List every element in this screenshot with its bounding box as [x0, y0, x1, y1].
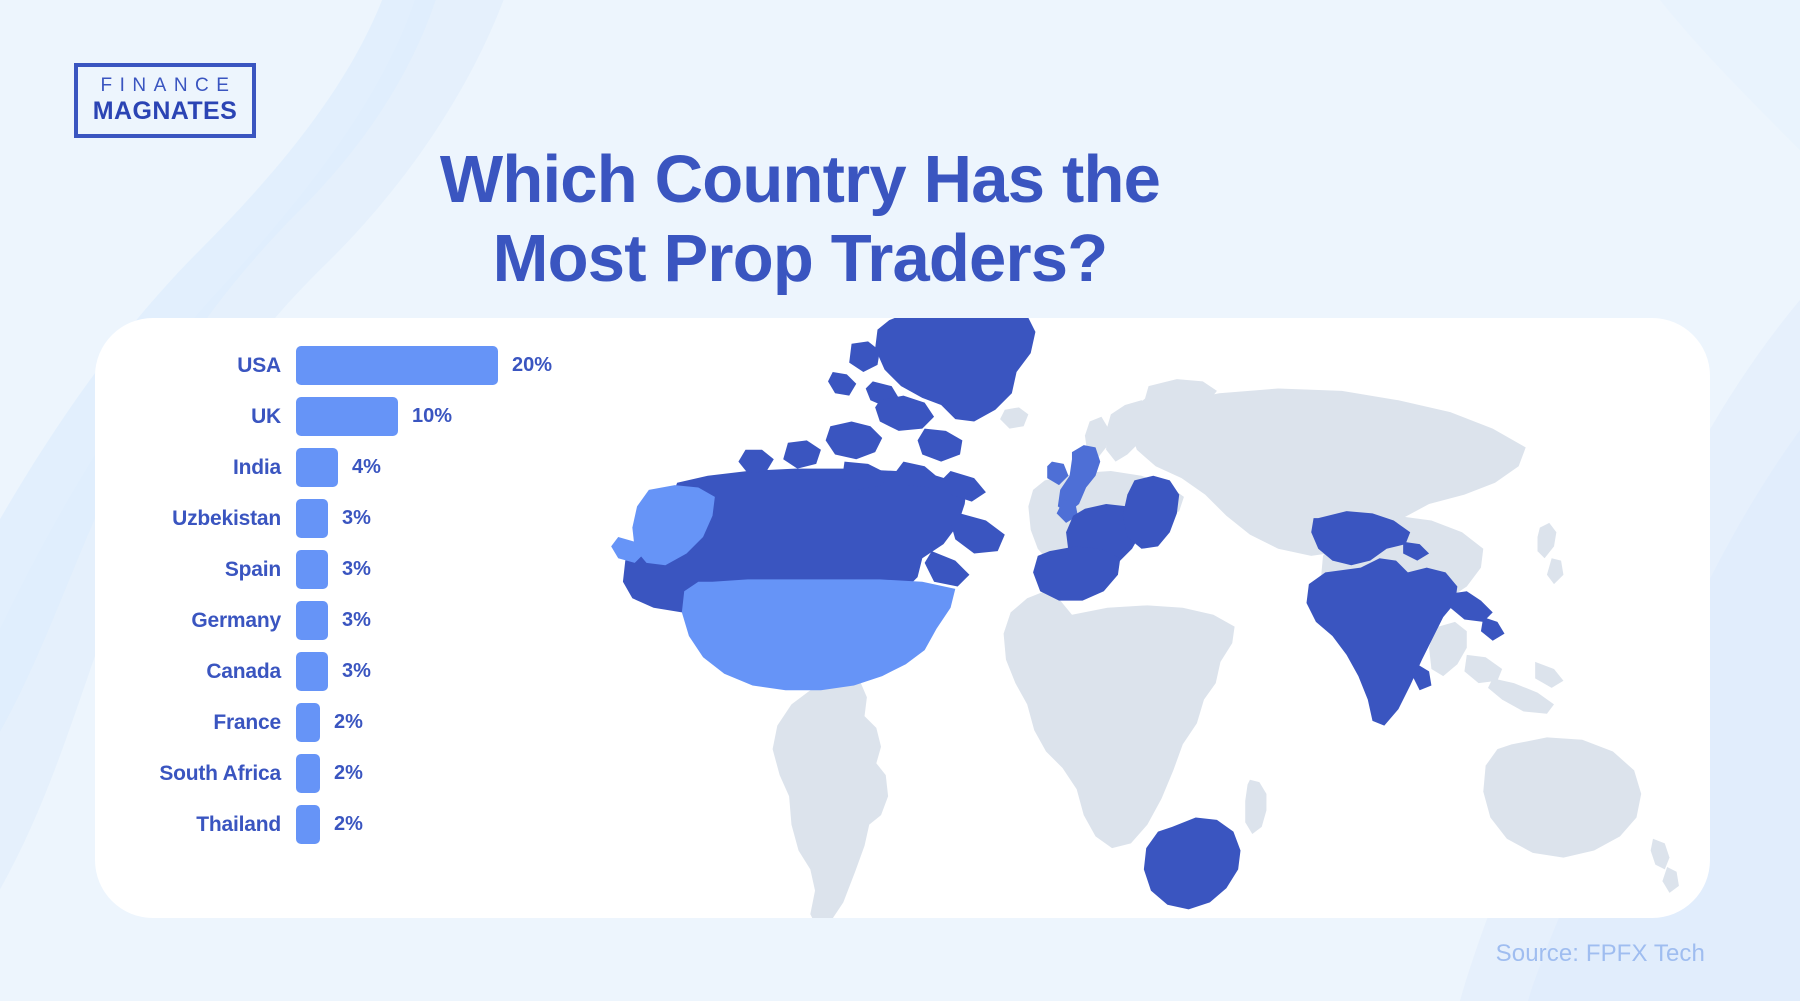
bar-track: 3% [296, 601, 371, 640]
bar-label: South Africa [125, 762, 296, 786]
page-title-line-2: Most Prop Traders? [330, 219, 1270, 298]
bar-label: Uzbekistan [125, 507, 296, 531]
bar-value: 3% [342, 609, 371, 632]
bar-track: 2% [296, 805, 363, 844]
bar-value: 3% [342, 558, 371, 581]
world-map-svg [525, 318, 1710, 918]
bar-row: USA 20% [125, 340, 595, 391]
brand-logo: FINANCE MAGNATES [74, 63, 256, 138]
bar-row: UK 10% [125, 391, 595, 442]
bar-value: 2% [334, 813, 363, 836]
bar-fill [296, 550, 328, 589]
map-country-greenland [828, 318, 1035, 422]
bar-track: 2% [296, 754, 363, 793]
bar-chart: USA 20% UK 10% India 4% Uzbekistan [125, 340, 595, 850]
bar-track: 2% [296, 703, 363, 742]
source-credit: Source: FPFX Tech [1496, 940, 1705, 968]
map-country-india [1307, 558, 1505, 725]
bar-fill [296, 754, 320, 793]
bar-track: 10% [296, 397, 452, 436]
bar-label: Spain [125, 558, 296, 582]
bar-fill [296, 448, 338, 487]
bar-track: 4% [296, 448, 381, 487]
bar-value: 3% [342, 660, 371, 683]
bar-row: France 2% [125, 697, 595, 748]
bar-row: Canada 3% [125, 646, 595, 697]
bar-row: Uzbekistan 3% [125, 493, 595, 544]
bar-label: India [125, 456, 296, 480]
content-card: USA 20% UK 10% India 4% Uzbekistan [95, 318, 1710, 918]
bar-label: USA [125, 354, 296, 378]
bar-value: 4% [352, 456, 381, 479]
bar-track: 3% [296, 499, 371, 538]
bar-label: Germany [125, 609, 296, 633]
map-country-south-africa [1144, 818, 1241, 910]
bar-fill [296, 703, 320, 742]
bar-value: 2% [334, 711, 363, 734]
bar-track: 3% [296, 652, 371, 691]
bar-track: 20% [296, 346, 552, 385]
bar-label: Thailand [125, 813, 296, 837]
page-title-line-1: Which Country Has the [330, 140, 1270, 219]
world-map [525, 318, 1710, 918]
bar-label: UK [125, 405, 296, 429]
bar-value: 20% [512, 354, 552, 377]
map-country-spain [1033, 546, 1120, 600]
bar-track: 3% [296, 550, 371, 589]
bar-fill [296, 805, 320, 844]
bar-row: Thailand 2% [125, 799, 595, 850]
bar-row: Spain 3% [125, 544, 595, 595]
bar-row: South Africa 2% [125, 748, 595, 799]
bar-row: India 4% [125, 442, 595, 493]
bar-label: Canada [125, 660, 296, 684]
bar-fill [296, 346, 498, 385]
page-title: Which Country Has the Most Prop Traders? [330, 140, 1270, 298]
brand-logo-bottom-text: MAGNATES [93, 98, 237, 126]
bar-fill [296, 601, 328, 640]
bar-fill [296, 499, 328, 538]
bar-value: 3% [342, 507, 371, 530]
bar-fill [296, 652, 328, 691]
brand-logo-top-text: FINANCE [94, 76, 237, 96]
bar-fill [296, 397, 398, 436]
bar-row: Germany 3% [125, 595, 595, 646]
bar-label: France [125, 711, 296, 735]
bar-value: 2% [334, 762, 363, 785]
bar-value: 10% [412, 405, 452, 428]
